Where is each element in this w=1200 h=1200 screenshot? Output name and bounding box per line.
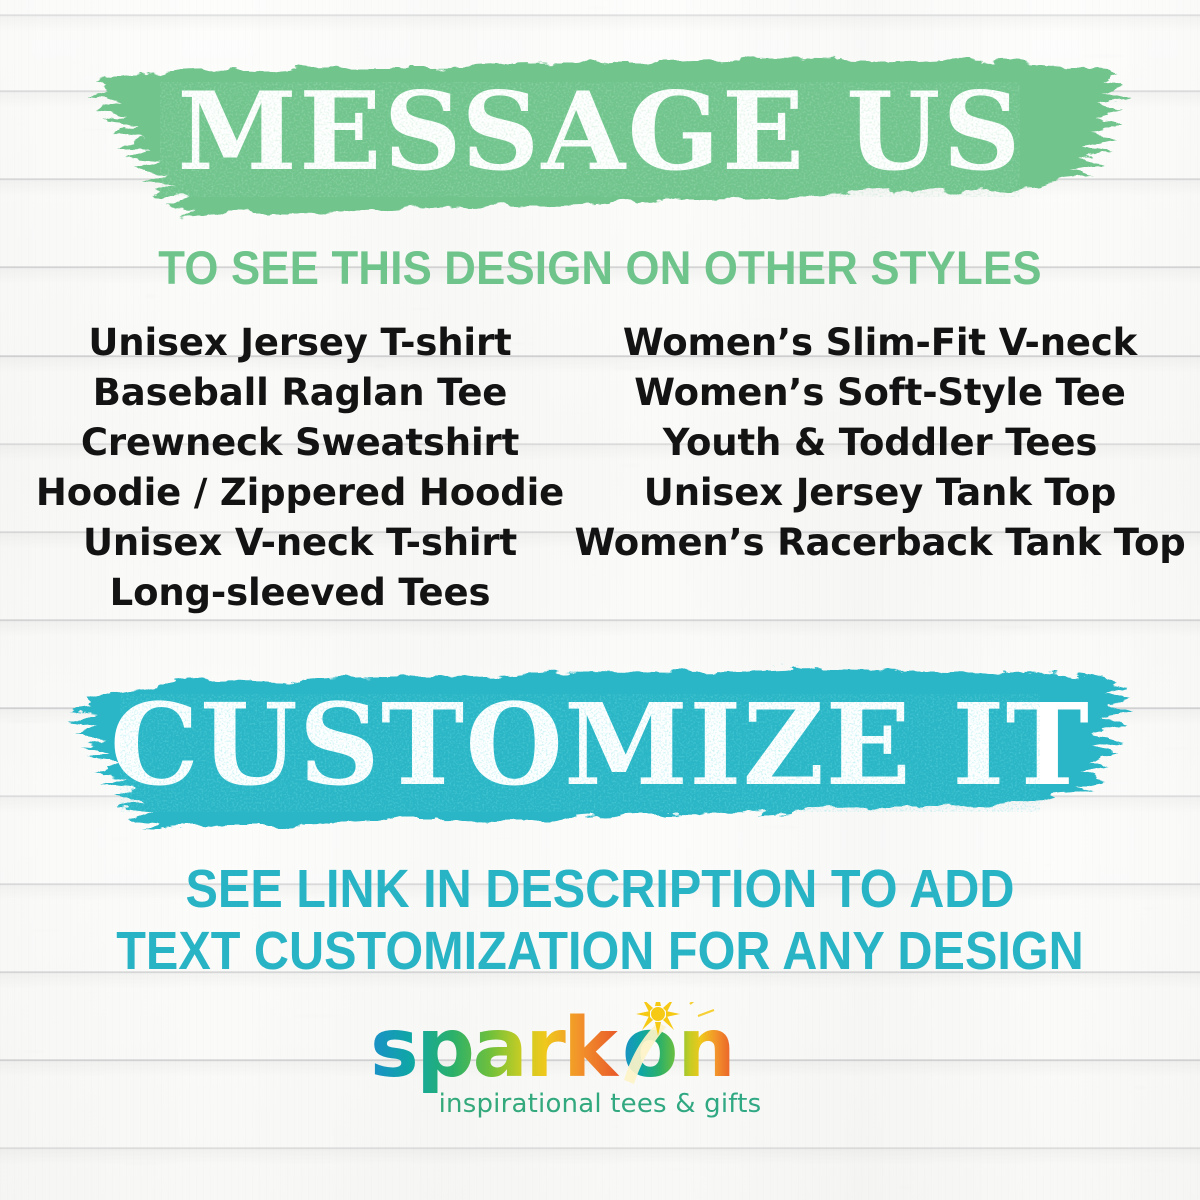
style-item: Unisex Jersey T-shirt [88,318,511,368]
logo-wordmark-spark: spark [370,1002,620,1096]
plank-shadow [0,1149,1200,1165]
wood-grain-speck [1146,970,1174,974]
cta-line-1: SEE LINK IN DESCRIPTION TO ADD [60,858,1140,920]
message-us-label: MESSAGE US [0,78,1200,186]
customize-it-label: CUSTOMIZE IT [0,690,1200,802]
style-list-right: Women’s Slim-Fit V-neckWomen’s Soft-Styl… [610,318,1150,618]
message-us-banner: MESSAGE US [0,52,1200,230]
style-item: Youth & Toddler Tees [663,418,1097,468]
style-item: Women’s Slim-Fit V-neck [623,318,1137,368]
wood-grain-speck [587,6,609,10]
poster-canvas: MESSAGE US TO SEE THIS DESIGN ON OTHER S… [0,0,1200,1200]
style-item: Women’s Soft-Style Tee [634,368,1125,418]
customize-it-banner: CUSTOMIZE IT [0,660,1200,840]
plank-seam [0,1147,1200,1150]
style-item: Unisex Jersey Tank Top [644,468,1116,518]
style-item: Women’s Racerback Tank Top [574,518,1185,568]
wood-grain-speck [988,625,1034,628]
style-item: Unisex V-neck T-shirt [83,518,517,568]
plank-shadow [0,621,1200,637]
plank-shadow [0,16,1200,32]
wood-grain-speck [1137,1170,1166,1172]
wood-grain-speck [782,1158,829,1160]
wood-grain-speck [903,1174,912,1177]
wood-grain-speck [996,302,1006,304]
wood-grain-speck [897,1186,912,1189]
style-item: Hoodie / Zippered Hoodie [36,468,564,518]
sparkon-logo[interactable]: spark on inspi [0,1002,1200,1127]
plank-seam [0,14,1200,17]
wood-grain-speck [387,308,433,310]
style-lists: Unisex Jersey T-shirtBaseball Raglan Tee… [0,318,1200,618]
style-item: Long-sleeved Tees [110,568,491,618]
style-item: Baseball Raglan Tee [93,368,508,418]
plank-seam [0,619,1200,622]
style-item: Crewneck Sweatshirt [81,418,519,468]
cta-line-2: TEXT CUSTOMIZATION FOR ANY DESIGN [60,920,1140,982]
style-list-left: Unisex Jersey T-shirtBaseball Raglan Tee… [50,318,550,618]
message-us-subhead: TO SEE THIS DESIGN ON OTHER STYLES [42,240,1158,295]
logo-tagline: inspirational tees & gifts [439,1089,762,1119]
wood-grain-speck [1142,907,1155,910]
